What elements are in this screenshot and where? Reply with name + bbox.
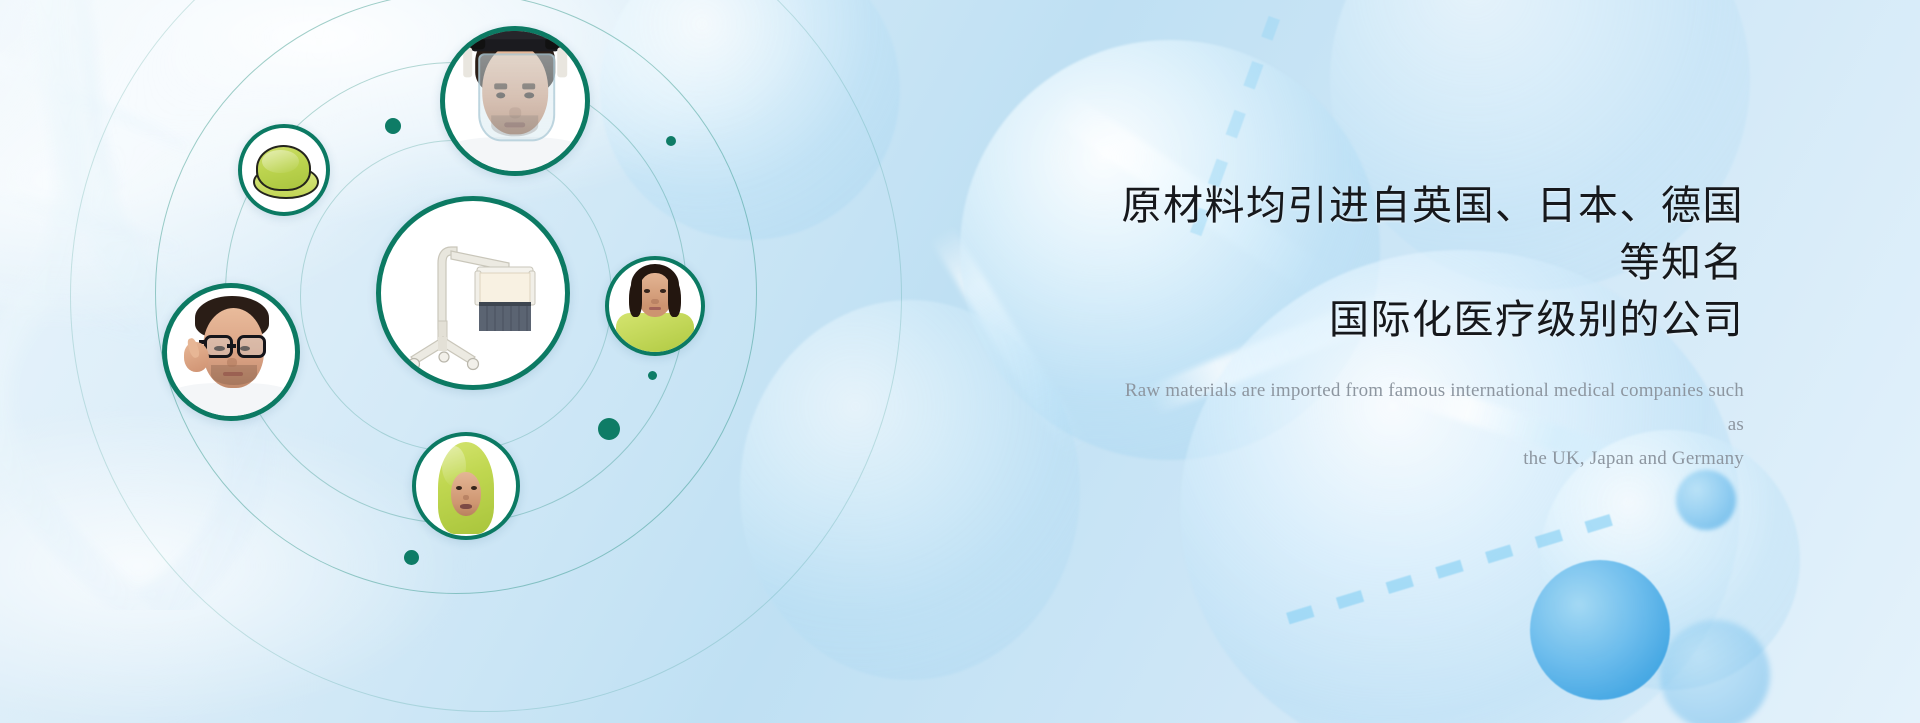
xray-barrier-svg (381, 201, 565, 385)
lead-hood-artwork (416, 436, 516, 536)
headline-line-1: 原材料均引进自英国、日本、德国等知名 (1122, 184, 1745, 285)
subtitle-line-2: the UK, Japan and Germany (1104, 442, 1744, 476)
lead-glasses-artwork (167, 288, 295, 416)
copy-block: 原材料均引进自英国、日本、德国等知名 国际化医疗级别的公司 Raw materi… (1104, 178, 1744, 476)
face-shield-artwork (445, 31, 585, 171)
blue-orb-2 (1676, 470, 1736, 530)
headline: 原材料均引进自英国、日本、德国等知名 国际化医疗级别的公司 (1104, 178, 1744, 348)
orbit-node-top (385, 118, 401, 134)
bubble-xray-barrier[interactable] (376, 196, 570, 390)
lead-cap-artwork (242, 128, 326, 212)
subtitle: Raw materials are imported from famous i… (1104, 374, 1744, 475)
subtitle-line-1: Raw materials are imported from famous i… (1125, 380, 1744, 435)
bubble-face-shield[interactable] (440, 26, 590, 176)
hero-banner: 原材料均引进自英国、日本、德国等知名 国际化医疗级别的公司 Raw materi… (0, 0, 1920, 723)
thyroid-collar-artwork (609, 260, 701, 352)
bubble-lead-hood[interactable] (412, 432, 520, 540)
orbit-node-upper (666, 136, 676, 146)
orbit-network (0, 0, 900, 723)
blue-orb-1 (1530, 560, 1670, 700)
orbit-node-mid (648, 371, 657, 380)
xray-barrier-artwork (381, 201, 565, 385)
bubble-lead-cap[interactable] (238, 124, 330, 216)
bubble-lead-glasses[interactable] (162, 283, 300, 421)
orbit-node-big (598, 418, 620, 440)
headline-line-2: 国际化医疗级别的公司 (1104, 292, 1744, 349)
orbit-node-bottom (404, 550, 419, 565)
bubble-thyroid-collar[interactable] (605, 256, 705, 356)
blue-orb-3 (1660, 620, 1770, 723)
